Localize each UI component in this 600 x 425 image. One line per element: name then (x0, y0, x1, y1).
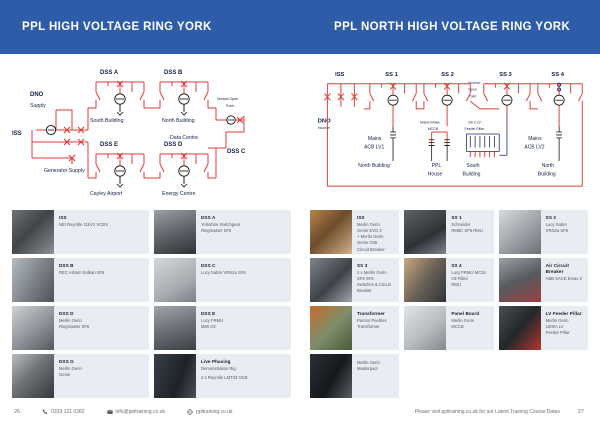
left-card-grid: ISS NEI Reyrolle 11kV2 VCB's DSS A Yorks… (12, 206, 292, 398)
thumbnail-image (310, 354, 352, 398)
card-title: Panel Board (451, 311, 479, 317)
header-left: PPL HIGH VOLTAGE RING YORK (0, 0, 300, 54)
card-title: DSS A (201, 215, 240, 221)
list-item[interactable]: Panel Board Merlin Gerin MCCB (404, 306, 493, 350)
list-item[interactable]: Merlin Gerin Masterpact (310, 354, 399, 398)
thumbnail-image (404, 306, 446, 350)
node-label-ss3: SS 3 (499, 72, 512, 78)
feeder-pillar-symbol (466, 111, 507, 155)
card-subtitle: Yorkshire Switchgear Ringmaster SF6 (201, 222, 240, 234)
card-subtitle: REC Alstom Solkan SF6 (59, 270, 104, 276)
thumbnail-image (12, 210, 54, 254)
card-subtitle: Merlin Gerin Genie EVO 2 + Merlin Gerin … (357, 222, 385, 252)
footer-left: 26 0333 121 0382 info@ppltraining.co.uk … (0, 409, 300, 415)
label-acb-lv2-2: ACB LV2 (524, 144, 544, 150)
card-subtitle: Demonstration Rig (201, 366, 248, 372)
list-item[interactable]: Air Circuit Breaker ABB SACE Emax 2 (499, 258, 588, 302)
node-label-ss1: SS 1 (385, 72, 398, 78)
card-title: DSS G (59, 359, 82, 365)
list-item[interactable]: SS 4 Lucy FRMU MC2a Oil Filled RMU (404, 258, 493, 302)
feed-north-building: North Building (162, 118, 195, 124)
node-label-ss4: SS 4 (551, 72, 564, 78)
left-column: DSS A DSS B DSS E DSS D DSS C DNO Supply… (0, 54, 300, 399)
list-item[interactable]: LV Feeder Pillar Merlin Gerin 1600A LV F… (499, 306, 588, 350)
card-title: ISS (59, 215, 108, 221)
label-acb-lv1-1: Mains (368, 136, 382, 142)
card-subtitle: Lucy FRMU MC2a Oil Filled RMU (451, 270, 485, 288)
card-subtitle: Merlin Gerin MCCB (451, 318, 479, 330)
feed-south-building-1: South (466, 163, 479, 169)
label-normal-open-point: Normal Open (217, 97, 238, 101)
card-title: ISS (357, 215, 385, 221)
page-title-right: PPL NORTH HIGH VOLTAGE RING YORK (334, 21, 570, 33)
label-acb-lv1-2: ACB LV1 (364, 144, 384, 150)
label-iss: ISS (12, 131, 22, 137)
right-ring-diagram: ISS SS 1 SS 2 SS 3 SS 4 DNO Incomer Norm… (310, 60, 590, 206)
label-mains-intake-1: Mains Intake (420, 120, 440, 124)
card-title: LV Feeder Pillar (546, 311, 582, 317)
feed-north-building-2-1: North (542, 163, 554, 169)
card-title: Transformer (357, 311, 387, 317)
feed-south-building: South Building (90, 118, 124, 124)
label-dno: DNO (30, 92, 44, 98)
label-acb-lv2-1: Mains (528, 136, 542, 142)
page-root: PPL HIGH VOLTAGE RING YORK PPL NORTH HIG… (0, 0, 600, 425)
feed-north-building-1: North Building (358, 163, 390, 169)
list-item[interactable]: DSS A Yorkshire Switchgear Ringmaster SF… (154, 210, 291, 254)
envelope-icon (107, 409, 113, 415)
right-card-grid: ISS Merlin Gerin Genie EVO 2 + Merlin Ge… (310, 206, 590, 398)
label-mains-intake-2: MCCB (428, 127, 439, 131)
right-column: ISS SS 1 SS 2 SS 3 SS 4 DNO Incomer Norm… (300, 54, 600, 399)
thumbnail-image (310, 210, 352, 254)
thumbnail-image (12, 306, 54, 350)
thumbnail-image (12, 258, 54, 302)
footer-email-text: info@ppltraining.co.uk (116, 409, 166, 415)
footer-phone[interactable]: 0333 121 0382 (42, 409, 84, 415)
card-title: Live Phasing (201, 359, 248, 365)
thumbnail-image (154, 210, 196, 254)
feed-ppl-house-1: PPL (432, 163, 442, 169)
label-feeder-pillar-1: SS 3 LV (468, 120, 481, 124)
label-dno-supply: Supply (30, 103, 46, 109)
feed-cayley-airport: Cayley Airport (90, 191, 123, 197)
card-subtitle: Merlin Gerin Ringmaster SF6 (59, 318, 89, 330)
card-title: DSS E (201, 311, 223, 317)
card-subtitle: NEI Reyrolle 11kV2 VCB's (59, 222, 108, 228)
card-subtitle: Lucy Sabre VRN2a SF6 (546, 222, 568, 234)
thumbnail-image (12, 354, 54, 398)
header-right: PPL NORTH HIGH VOLTAGE RING YORK (300, 0, 600, 54)
list-item[interactable]: DSS D Merlin Gerin Ringmaster SF6 (12, 306, 149, 350)
switch-marks (324, 83, 509, 100)
footer-website-text: ppltraining.co.uk (196, 409, 232, 415)
footer-right: Please visit ppltraining.co.uk for our L… (300, 409, 600, 415)
page-number-right: 27 (578, 409, 584, 415)
list-item[interactable]: SS 2 Lucy Sabre VRN2a SF6 (499, 210, 588, 254)
page-content: DSS A DSS B DSS E DSS D DSS C DNO Supply… (0, 54, 600, 399)
label-normal-open-point-2: Open (468, 88, 477, 92)
label-normal-open-point-2: Point (226, 104, 234, 108)
card-subtitle: Merlin Gerin 1600A LV Feeder Pillar (546, 318, 582, 336)
card-subtitle: 2 x Merlin Gerin SF6 SF6 Switches & Circ… (357, 270, 391, 294)
feed-energy-centre: Energy Centre (162, 191, 196, 197)
left-ring-diagram: DSS A DSS B DSS E DSS D DSS C DNO Supply… (12, 60, 292, 206)
thumbnail-image (499, 210, 541, 254)
card-title: SS 2 (546, 215, 568, 221)
list-item[interactable]: SS 1 Schneider RM6C SF6 RMU (404, 210, 493, 254)
page-header: PPL HIGH VOLTAGE RING YORK PPL NORTH HIG… (0, 0, 600, 54)
thumbnail-image (154, 258, 196, 302)
card-title: SS 3 (357, 263, 391, 269)
list-item[interactable]: DSS E Lucy FRMU M80 Oil (154, 306, 291, 350)
feed-south-building-2: Building (463, 171, 481, 177)
card-subtitle: Lucy FRMU M80 Oil (201, 318, 223, 330)
thumbnail-image (310, 258, 352, 302)
feed-data-centre: Data Centre (170, 135, 198, 141)
card-subtitle: Schneider RM6C SF6 RMU (451, 222, 482, 234)
feed-ppl-house-2: House (428, 171, 443, 177)
card-subtitle: Parson Peebles Transformer (357, 318, 387, 330)
thumbnail-image (154, 354, 196, 398)
card-title: DSS C (201, 263, 246, 269)
list-item[interactable]: Live Phasing Demonstration Rig 2 x Reyro… (154, 354, 291, 398)
thumbnail-image (404, 258, 446, 302)
card-subtitle: Merlin Gerin Masterpact (357, 360, 380, 372)
label-dno: DNO (318, 118, 331, 124)
card-title: Air Circuit Breaker (546, 263, 585, 275)
list-item[interactable]: DSS B REC Alstom Solkan SF6 (12, 258, 149, 302)
feed-generator-supply: Generator Supply (44, 168, 85, 174)
label-feeder-pillar-2: Feeder Pillar (464, 127, 485, 131)
page-number-left: 26 (14, 409, 20, 415)
thumbnail-image (499, 258, 541, 302)
list-item[interactable]: Transformer Parson Peebles Transformer (310, 306, 399, 350)
footer-email[interactable]: info@ppltraining.co.uk (107, 409, 166, 415)
card-subtitle: Merlin Gerin Genie (59, 366, 82, 378)
node-label-dss-b: DSS B (164, 70, 183, 76)
page-footer: 26 0333 121 0382 info@ppltraining.co.uk … (0, 399, 600, 425)
label-dno-incomer: Incomer (318, 126, 331, 130)
list-item[interactable]: SS 3 2 x Merlin Gerin SF6 SF6 Switches &… (310, 258, 399, 302)
card-title: DSS D (59, 311, 89, 317)
card-subtitle: Lucy Sabre VRN2a SF6 (201, 270, 246, 276)
thumbnail-image (310, 306, 352, 350)
node-label-dss-c: DSS C (227, 149, 246, 155)
globe-icon (187, 409, 193, 415)
footer-website[interactable]: ppltraining.co.uk (187, 409, 232, 415)
card-subtitle: ABB SACE Emax 2 (546, 276, 585, 282)
thumbnail-image (499, 306, 541, 350)
page-title-left: PPL HIGH VOLTAGE RING YORK (22, 21, 212, 33)
list-item[interactable]: ISS NEI Reyrolle 11kV2 VCB's (12, 210, 149, 254)
card-title: SS 4 (451, 263, 485, 269)
node-label-dss-e: DSS E (100, 142, 118, 148)
list-item[interactable]: DSS C Lucy Sabre VRN2a SF6 (154, 258, 291, 302)
thumbnail-image (404, 210, 446, 254)
node-label-iss: ISS (335, 72, 344, 78)
list-item[interactable]: DSS G Merlin Gerin Genie (12, 354, 149, 398)
node-label-ss2: SS 2 (441, 72, 454, 78)
footer-phone-text: 0333 121 0382 (51, 409, 84, 415)
thumbnail-image (154, 306, 196, 350)
phone-icon (42, 409, 48, 415)
feed-north-building-2-2: Building (538, 171, 556, 177)
card-subtitle-2: 2 x Reyrolle LMT33 OCB (201, 375, 248, 381)
node-label-dss-a: DSS A (100, 70, 119, 76)
list-item[interactable]: ISS Merlin Gerin Genie EVO 2 + Merlin Ge… (310, 210, 399, 254)
card-title: DSS B (59, 263, 104, 269)
footer-note: Please visit ppltraining.co.uk for our L… (415, 409, 560, 415)
card-title: SS 1 (451, 215, 482, 221)
node-label-dss-d: DSS D (164, 142, 183, 148)
